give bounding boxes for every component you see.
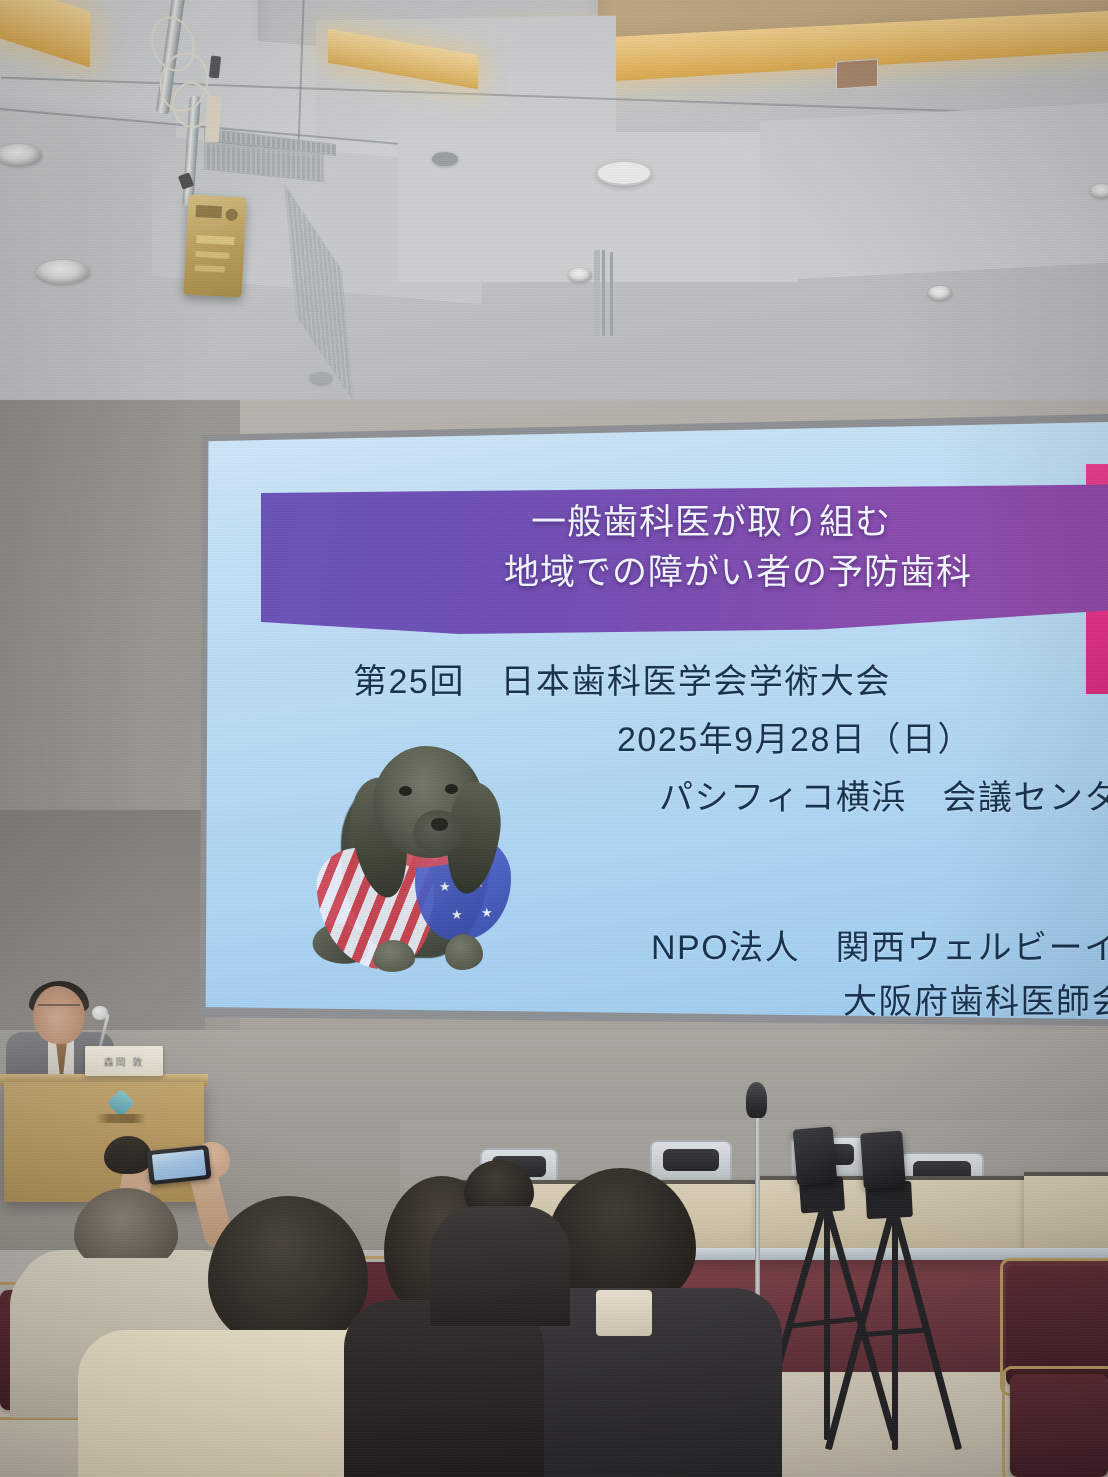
slide-event-date: 2025年9月28日（日） xyxy=(617,718,973,762)
downlight-icon-1 xyxy=(0,144,42,166)
tripod-icon-2 xyxy=(848,1206,938,1476)
smartphone-icon xyxy=(146,1145,211,1185)
stage-desk-3 xyxy=(1024,1172,1108,1258)
conference-photo: 一般歯科医が取り組む 地域での障がい者の予防歯科 第25回 日本歯科医学会学術大… xyxy=(0,0,1108,1477)
ceiling xyxy=(0,0,1108,440)
slide-title-banner: 一般歯科医が取り組む 地域での障がい者の予防歯科 xyxy=(261,484,1108,634)
speaker-head xyxy=(33,986,85,1044)
slide-event-venue: パシフィコ横浜 会議センター xyxy=(659,776,1108,820)
projection-screen: 一般歯科医が取り組む 地域での障がい者の予防歯科 第25回 日本歯科医学会学術大… xyxy=(203,422,1108,1024)
smoke-detector-icon xyxy=(596,160,652,186)
nameplate-text: 森岡 敦 xyxy=(104,1054,145,1069)
video-camera-icon-2 xyxy=(860,1131,906,1190)
air-vent-icon-3 xyxy=(836,59,878,90)
person-collar xyxy=(596,1290,652,1336)
downlight-icon-5 xyxy=(568,268,592,282)
venue-logo xyxy=(104,1093,138,1119)
slide-credit-org: NPO法人 関西ウェルビーイングクラブ xyxy=(651,926,1108,970)
projector-unit-icon xyxy=(183,195,246,298)
slide-title-line-1: 一般歯科医が取り組む xyxy=(261,498,1108,548)
downlight-icon-4 xyxy=(310,372,332,384)
wall-recess xyxy=(0,810,205,1060)
video-camera-icon-1 xyxy=(793,1126,838,1185)
stage-chair-2 xyxy=(650,1140,732,1182)
downlight-icon-2 xyxy=(36,260,90,284)
downlight-icon-3 xyxy=(432,152,458,166)
microphone-head-icon xyxy=(92,1006,108,1020)
speaker-nameplate: 森岡 敦 xyxy=(85,1046,163,1076)
dog-illustration: ★ ★ ★ ★ ★ ★ xyxy=(295,738,545,988)
downlight-icon-6 xyxy=(928,286,952,300)
slide-event-name: 第25回 日本歯科医学会学術大会 xyxy=(353,660,891,704)
person-hair xyxy=(104,1136,152,1174)
boom-microphone-icon xyxy=(746,1082,767,1118)
downlight-icon-7 xyxy=(1090,184,1108,198)
slide-title-line-2: 地域での障がい者の予防歯科 xyxy=(261,548,1108,598)
speaker-glasses xyxy=(38,1004,80,1015)
air-vent-icon-6 xyxy=(594,250,600,336)
